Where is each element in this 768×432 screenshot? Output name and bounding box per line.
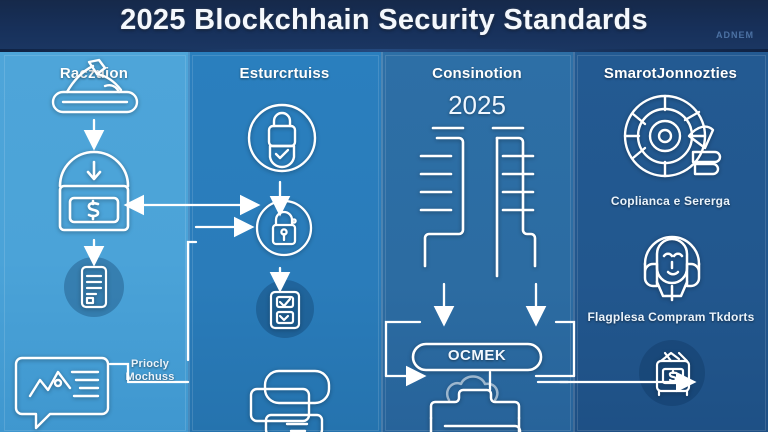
column-header-4: SmarotJonnozties	[573, 52, 768, 94]
infographic-canvas: 2025 Blockchhain Security Standards ADNE…	[0, 0, 768, 432]
padlock-shield-icon	[244, 100, 320, 176]
vault-dollar-icon	[48, 146, 140, 238]
column-smartjonnozties[interactable]: SmarotJonnozties Coplianca e Sererga	[573, 52, 768, 432]
header-bar: 2025 Blockchhain Security Standards ADNE…	[0, 0, 768, 52]
column-esturcrtuiss[interactable]: Esturcrtuiss	[188, 52, 381, 432]
column-container: Raczuion	[0, 52, 768, 432]
year-label: 2025	[381, 90, 573, 121]
column-raczuion[interactable]: Raczuion	[0, 52, 188, 432]
col4-caption-1: Coplianca e Sererga	[583, 194, 758, 208]
secure-file-icon	[267, 290, 303, 330]
output-node	[421, 372, 539, 432]
consensus-ladder-diagram	[411, 118, 546, 278]
secure-wallet-icon	[653, 347, 693, 399]
column-header-label: Esturcrtuiss	[240, 65, 330, 82]
column-header-label: SmarotJonnozties	[604, 65, 737, 82]
page-title: 2025 Blockchhain Security Standards	[0, 4, 768, 37]
face-headset-icon	[631, 220, 713, 304]
padlock-key-icon	[253, 197, 315, 259]
column-header-3: Consinotion	[381, 52, 573, 94]
col1-caption: Priocly Mochuss	[112, 358, 188, 384]
chart-screen-icon	[10, 350, 115, 432]
col4-caption-2: Flagplesa Compram Tkdorts	[577, 310, 765, 324]
chat-device-icon	[243, 367, 333, 432]
watermark-text: ADNEM	[716, 30, 754, 40]
column-header-2: Esturcrtuiss	[188, 52, 381, 94]
handshake-icon	[45, 56, 145, 118]
process-box-label: OCMEK	[411, 347, 543, 364]
target-hand-icon	[615, 90, 725, 194]
mobile-ledger-icon	[79, 265, 109, 309]
column-consinotion[interactable]: Consinotion 2025	[381, 52, 573, 432]
column-header-label: Consinotion	[432, 65, 522, 82]
